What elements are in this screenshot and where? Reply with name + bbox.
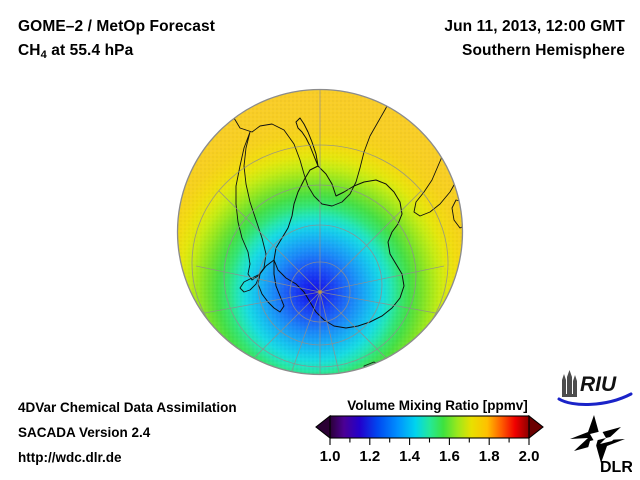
footer-url[interactable]: http://wdc.dlr.de xyxy=(18,450,122,465)
colorbar-high-cap xyxy=(529,416,543,438)
tick-label: 1.8 xyxy=(479,448,500,465)
region-label: Southern Hemisphere xyxy=(462,42,625,60)
colorbar-tick-labels: 1.0 1.2 1.4 1.6 1.8 2.0 xyxy=(320,448,540,465)
species-level: at 55.4 hPa xyxy=(47,42,134,59)
colorbar-ticks xyxy=(330,438,529,445)
riu-spires-icon xyxy=(562,370,577,397)
footer-version: SACADA Version 2.4 xyxy=(18,425,150,440)
globe-map xyxy=(168,80,473,385)
dlr-logo: DLR xyxy=(566,412,632,474)
colorbar-low-cap xyxy=(316,416,330,438)
tick-label: 1.0 xyxy=(320,448,341,465)
timestamp: Jun 11, 2013, 12:00 GMT xyxy=(444,18,625,36)
colorbar-title: Volume Mixing Ratio [ppmv] xyxy=(330,398,545,413)
colorbar-ramp xyxy=(330,416,529,438)
tick-label: 1.2 xyxy=(359,448,380,465)
species-label: CH xyxy=(18,42,41,59)
dlr-pinwheel-icon xyxy=(568,413,628,464)
colorbar: 1.0 1.2 1.4 1.6 1.8 2.0 xyxy=(312,414,547,470)
dlr-logo-svg: DLR xyxy=(566,412,632,474)
riu-logo-svg: RIU xyxy=(556,368,634,408)
tick-label: 2.0 xyxy=(519,448,540,465)
dlr-wordmark: DLR xyxy=(600,459,632,474)
title-instrument: GOME–2 / MetOp Forecast xyxy=(18,18,215,36)
tick-label: 1.6 xyxy=(439,448,460,465)
title-species: CH4 at 55.4 hPa xyxy=(18,42,133,61)
footer-method: 4DVar Chemical Data Assimilation xyxy=(18,400,237,415)
tick-label: 1.4 xyxy=(399,448,421,465)
colorbar-svg: 1.0 1.2 1.4 1.6 1.8 2.0 xyxy=(312,414,547,470)
south-pole-marker xyxy=(318,290,321,293)
globe-svg xyxy=(168,80,473,385)
riu-logo: RIU xyxy=(556,368,634,408)
plot-canvas: GOME–2 / MetOp Forecast CH4 at 55.4 hPa … xyxy=(0,0,640,480)
riu-wordmark: RIU xyxy=(580,373,617,396)
